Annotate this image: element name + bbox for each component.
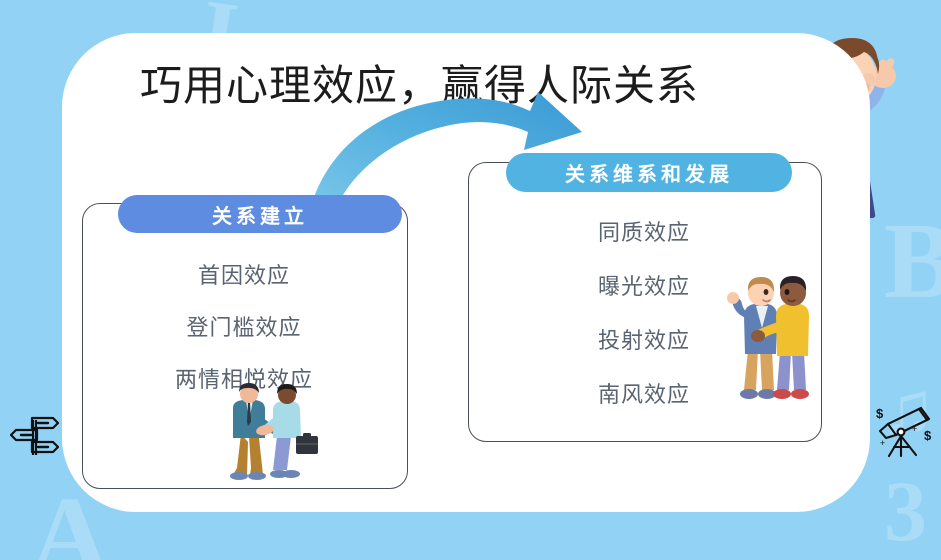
list-item: 登门槛效应 [186, 310, 301, 342]
sparkle-plus-1: + [912, 424, 917, 434]
dollar-symbol-right: $ [924, 428, 932, 443]
card-header-relationship-maintenance: 关系维系和发展 [506, 153, 792, 192]
list-item: 首因效应 [198, 258, 290, 290]
telescope-icon: $ $ + + [874, 400, 938, 462]
handshake-illustration [203, 382, 327, 482]
signpost-icon [10, 408, 64, 462]
list-item: 南风效应 [598, 377, 690, 409]
slide-canvas: J A B ♫ 3 [0, 0, 941, 560]
list-item: 同质效应 [598, 215, 690, 247]
two-friends-illustration [722, 272, 826, 408]
dollar-symbol-left: $ [876, 406, 884, 421]
list-item: 曝光效应 [598, 269, 690, 301]
list-item: 投射效应 [598, 323, 690, 355]
card-header-relationship-building: 关系建立 [118, 195, 402, 233]
sparkle-plus-2: + [880, 438, 885, 448]
watermark-question-glyph-icon: 3 [884, 468, 927, 554]
